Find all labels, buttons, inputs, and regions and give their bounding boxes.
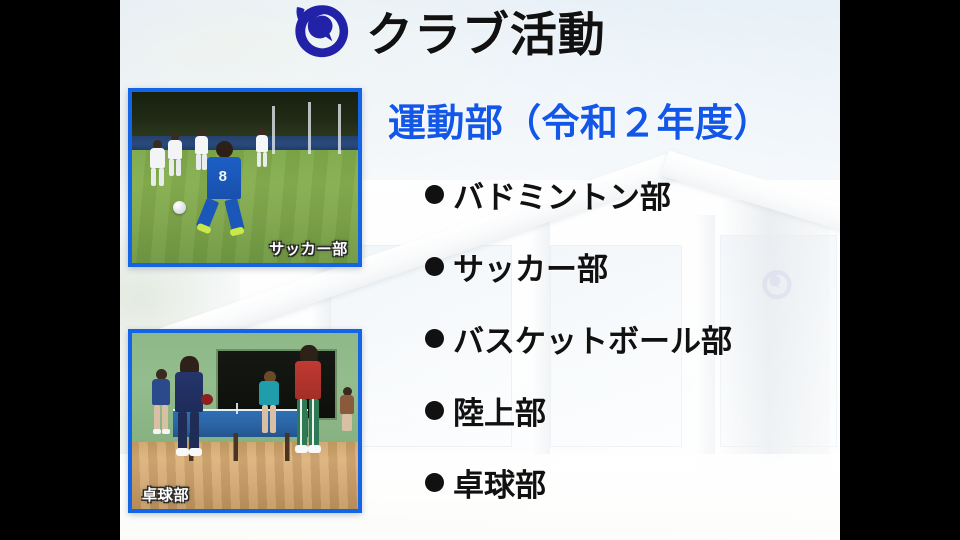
club-name: サッカー部 bbox=[453, 244, 608, 289]
video-letterbox-stage: クラブ活動 運動部（令和２年度） バドミントン部 サッカー部 バスケットボール部 bbox=[0, 0, 960, 540]
photo-card-table-tennis: 卓球部 bbox=[128, 329, 362, 513]
player-white bbox=[150, 148, 165, 186]
player-blue-number-8: 8 bbox=[207, 157, 241, 233]
photo-caption-soccer: サッカー部 bbox=[269, 238, 348, 259]
goal-post bbox=[338, 104, 341, 154]
student-navy-foreground bbox=[175, 372, 203, 458]
club-name: バドミントン部 bbox=[453, 172, 671, 217]
student-navy-left bbox=[152, 379, 170, 435]
section-heading: 運動部（令和２年度） bbox=[388, 92, 772, 147]
presentation-slide: クラブ活動 運動部（令和２年度） バドミントン部 サッカー部 バスケットボール部 bbox=[120, 0, 840, 540]
bullet-icon bbox=[425, 473, 444, 492]
ping-pong-paddle bbox=[201, 394, 213, 405]
bullet-icon bbox=[425, 329, 444, 348]
photo-card-soccer: 8 サッカー部 bbox=[128, 88, 362, 267]
ping-pong-net bbox=[236, 403, 238, 414]
club-list-item-basketball: バスケットボール部 bbox=[425, 302, 840, 374]
club-list-item-soccer: サッカー部 bbox=[425, 230, 840, 302]
player-white bbox=[168, 140, 182, 176]
club-list-item-badminton: バドミントン部 bbox=[425, 158, 840, 230]
school-swirl-crest-icon bbox=[288, 2, 352, 66]
soccer-match-photo: 8 サッカー部 bbox=[132, 92, 358, 263]
club-name: バスケットボール部 bbox=[453, 316, 732, 361]
slide-content: クラブ活動 運動部（令和２年度） バドミントン部 サッカー部 バスケットボール部 bbox=[120, 0, 840, 540]
goal-post bbox=[308, 102, 311, 153]
club-name: 卓球部 bbox=[453, 460, 546, 505]
club-list-item-track-and-field: 陸上部 bbox=[425, 374, 840, 446]
player-white bbox=[256, 135, 268, 167]
club-list-item-table-tennis: 卓球部 bbox=[425, 446, 840, 518]
bullet-icon bbox=[425, 401, 444, 420]
page-title: クラブ活動 bbox=[366, 11, 606, 58]
bullet-icon bbox=[425, 257, 444, 276]
slide-header: クラブ活動 bbox=[288, 2, 606, 66]
bullet-icon bbox=[425, 185, 444, 204]
club-name: 陸上部 bbox=[453, 388, 546, 433]
letterbox-bar-right bbox=[840, 0, 960, 540]
goal-post bbox=[272, 106, 275, 154]
club-list: バドミントン部 サッカー部 バスケットボール部 陸上部 卓球部 bbox=[425, 158, 840, 518]
student-seated bbox=[340, 395, 354, 433]
photo-caption-table-tennis: 卓球部 bbox=[142, 484, 189, 505]
table-tennis-practice-photo: 卓球部 bbox=[132, 333, 358, 509]
student-teal bbox=[259, 381, 279, 437]
letterbox-bar-left bbox=[0, 0, 120, 540]
coach-tracksuit bbox=[295, 361, 321, 455]
